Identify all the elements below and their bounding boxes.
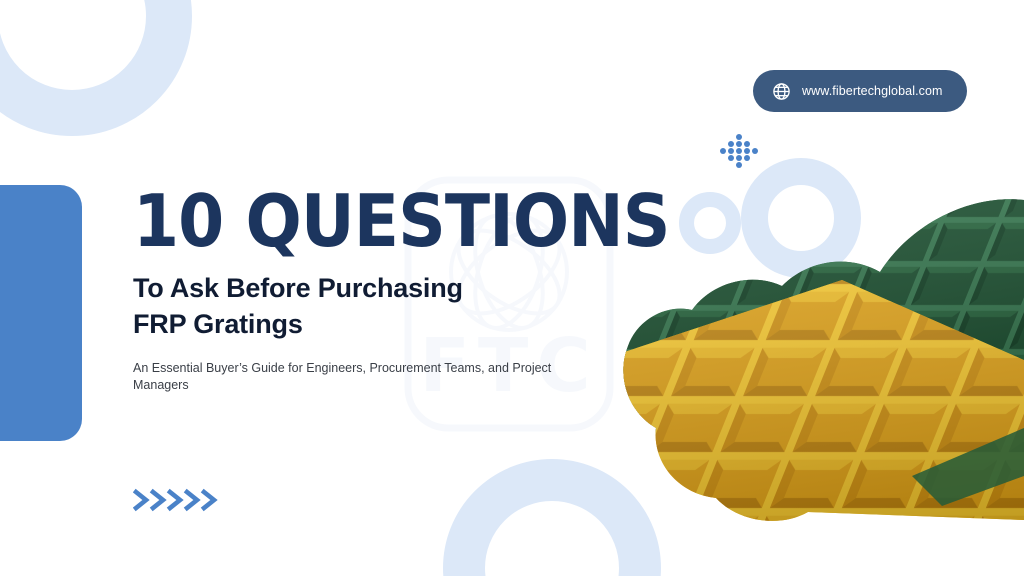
decorative-dot-grid <box>711 133 767 169</box>
page-description: An Essential Buyer’s Guide for Engineers… <box>133 360 563 394</box>
frp-grating-artwork <box>612 176 1024 528</box>
page-title: 10 QUESTIONS <box>133 186 565 256</box>
website-url-pill[interactable]: www.fibertechglobal.com <box>753 70 967 112</box>
cover-canvas: FTC <box>0 0 1024 576</box>
chevron-arrows <box>133 487 223 513</box>
page-subtitle-line-1: To Ask Before Purchasing <box>133 270 603 306</box>
website-url-text: www.fibertechglobal.com <box>802 84 943 98</box>
hero-text-block: 10 QUESTIONS To Ask Before Purchasing FR… <box>133 186 603 394</box>
globe-icon <box>772 82 791 101</box>
decorative-blue-block-left <box>0 185 82 441</box>
page-subtitle-line-2: FRP Gratings <box>133 306 603 342</box>
page-subtitle: To Ask Before Purchasing FRP Gratings <box>133 270 603 342</box>
decorative-ring-top-left <box>0 0 192 136</box>
